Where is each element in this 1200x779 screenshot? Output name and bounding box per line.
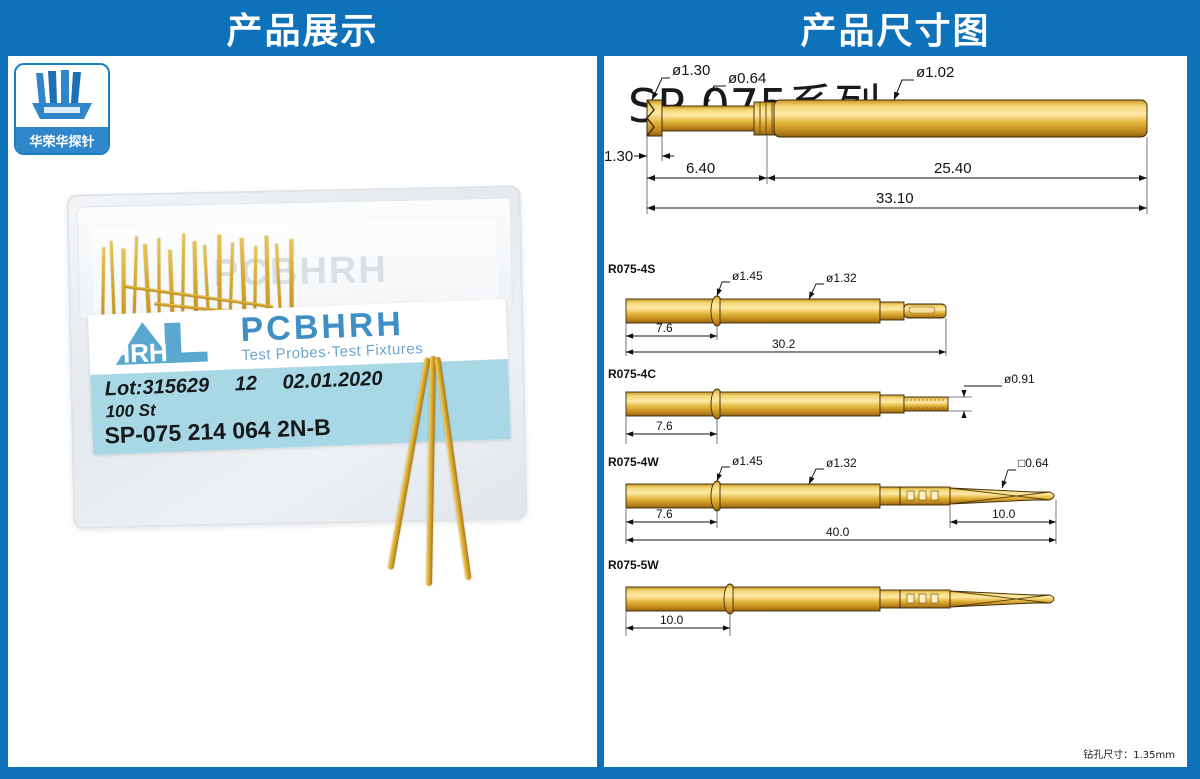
callout-tip-dia: ø1.30 — [672, 62, 710, 79]
dim-4c-7p6: 7.6 — [656, 419, 673, 433]
callout-4s-dia145: ø1.45 — [732, 269, 763, 283]
right-panel-title: 产品尺寸图 — [800, 2, 990, 54]
label-lot-line: Lot:315629 12 02.01.2020 — [104, 367, 403, 401]
callout-4c-dia091: ø0.91 — [1004, 372, 1035, 386]
probe-box: PCBHRH — [67, 185, 528, 528]
dim-tip-length: 1.30 — [604, 148, 633, 165]
svg-text:HRH: HRH — [111, 337, 168, 369]
part-label-4c: R075-4C — [608, 367, 656, 381]
left-panel-title: 产品展示 — [226, 2, 378, 54]
drill-size-note: 钻孔尺寸：1.35mm — [1083, 746, 1175, 761]
callout-4w-dia132: ø1.32 — [826, 456, 857, 470]
dim-4w-40p0: 40.0 — [826, 525, 850, 539]
left-panel-header: 产品展示 — [0, 0, 597, 56]
dim-4s-7p6: 7.6 — [656, 321, 673, 335]
receptacle-5w-drawing: R075-5W — [608, 558, 1054, 636]
crown-cup-icon — [26, 67, 98, 125]
drawing-container: SP-075系列 — [604, 56, 1187, 767]
product-photo-container: PCBHRH — [8, 56, 597, 767]
technical-drawing: SP-075系列 — [604, 56, 1187, 767]
company-logo: 华荣华探针 — [14, 63, 110, 155]
dimension-drawing-panel: 产品尺寸图 SP-075系列 — [597, 0, 1200, 779]
dim-plunger-length: 6.40 — [686, 160, 715, 177]
callout-barrel-dia: ø1.02 — [916, 64, 954, 81]
part-label-4s: R075-4S — [608, 262, 655, 276]
dim-4w-10p0: 10.0 — [992, 507, 1016, 521]
product-showcase-panel: 产品展示 PCBHRH — [0, 0, 597, 779]
dim-4w-7p6: 7.6 — [656, 507, 673, 521]
label-lot: Lot:315629 — [104, 374, 209, 400]
dim-4s-30p2: 30.2 — [772, 337, 796, 351]
product-spec-page: 产品展示 PCBHRH — [0, 0, 1200, 779]
dim-5w-10p0: 10.0 — [660, 613, 684, 627]
callout-4w-dia145: ø1.45 — [732, 454, 763, 468]
logo-mark — [16, 65, 108, 125]
main-probe-drawing: ø1.30 ø0.64 ø1.02 1.30 — [604, 62, 1147, 214]
receptacle-4c-drawing: R075-4C — [608, 367, 1035, 444]
receptacle-4s-drawing: R075-4S ø1.45 ø1.32 — [608, 262, 946, 356]
product-photo: PCBHRH — [8, 56, 597, 767]
label-lot-code: 12 — [234, 373, 257, 396]
label-lot-date: 02.01.2020 — [282, 368, 383, 394]
callout-4w-sq064: □0.64 — [1018, 456, 1049, 470]
drawing-svg: ø1.30 ø0.64 ø1.02 1.30 — [604, 56, 1187, 756]
label-quantity: 100 St — [105, 401, 156, 423]
receptacle-4w-drawing: R075-4W — [608, 454, 1056, 544]
callout-4s-dia132: ø1.32 — [826, 271, 857, 285]
callout-plunger-dia: ø0.64 — [728, 70, 766, 87]
part-label-5w: R075-5W — [608, 558, 659, 572]
logo-text: 华荣华探针 — [16, 127, 108, 153]
right-panel-header: 产品尺寸图 — [597, 0, 1200, 56]
hrh-logo-icon: HRH — [102, 317, 224, 370]
dim-barrel-length: 25.40 — [934, 160, 972, 177]
part-label-4w: R075-4W — [608, 455, 659, 469]
dim-overall-length: 33.10 — [876, 190, 914, 207]
